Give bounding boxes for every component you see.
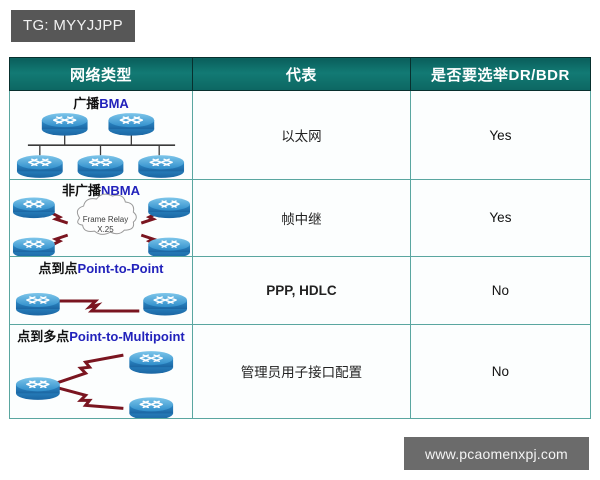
router-icon — [13, 198, 55, 219]
p2p-topology-svg — [10, 257, 192, 324]
cell-topology-broadcast: 广播BMA — [10, 91, 193, 180]
column-header-network-type: 网络类型 — [10, 58, 193, 91]
router-icon — [129, 397, 173, 418]
diagram-point-to-multipoint: 点到多点Point-to-Multipoint — [10, 325, 192, 418]
cell-representative-ppp-hdlc: PPP, HDLC — [193, 256, 411, 324]
cell-dr-bdr-p2mp: No — [410, 324, 590, 418]
table-header-row: 网络类型 代表 是否要选举DR/BDR — [10, 58, 591, 91]
router-icon — [17, 155, 63, 178]
router-icon — [148, 238, 190, 256]
router-icon — [16, 293, 60, 316]
table-row: 点到多点Point-to-Multipoint — [10, 324, 591, 418]
diagram-point-to-point: 点到点Point-to-Point — [10, 257, 192, 324]
cloud-label-line1: Frame Relay — [83, 215, 128, 224]
table-row: 点到点Point-to-Point — [10, 256, 591, 324]
cell-topology-point-to-point: 点到点Point-to-Point — [10, 256, 193, 324]
diagram-broadcast-bma: 广播BMA — [10, 91, 192, 179]
router-icon — [78, 155, 124, 178]
cell-representative-subinterface: 管理员用子接口配置 — [193, 324, 411, 418]
router-icon — [148, 198, 190, 219]
tg-tag: TG: MYYJJPP — [11, 10, 135, 42]
table-header: 网络类型 代表 是否要选举DR/BDR — [10, 58, 591, 91]
network-types-table: 网络类型 代表 是否要选举DR/BDR 广播BMA — [9, 57, 591, 419]
table-row: 广播BMA — [10, 91, 591, 180]
table-row: 非广播NBMA — [10, 180, 591, 256]
router-icon — [129, 351, 173, 374]
router-icon — [13, 238, 55, 256]
cell-dr-bdr-nbma: Yes — [410, 180, 590, 256]
site-watermark: www.pcaomenxpj.com — [404, 437, 589, 470]
broadcast-topology-svg — [10, 91, 192, 179]
router-icon — [138, 155, 184, 178]
cell-dr-bdr-broadcast: Yes — [410, 91, 590, 180]
column-header-representative: 代表 — [193, 58, 411, 91]
table-body: 广播BMA — [10, 91, 591, 419]
network-types-table-container: 网络类型 代表 是否要选举DR/BDR 广播BMA — [9, 57, 591, 419]
diagram-nbma: 非广播NBMA — [10, 180, 192, 255]
cell-dr-bdr-p2p: No — [410, 256, 590, 324]
cell-representative-ethernet: 以太网 — [193, 91, 411, 180]
cell-topology-nbma: 非广播NBMA — [10, 180, 193, 256]
p2mp-topology-svg — [10, 325, 192, 418]
cell-topology-point-to-multipoint: 点到多点Point-to-Multipoint — [10, 324, 193, 418]
nbma-topology-svg: Frame Relay X.25 — [10, 180, 192, 255]
router-icon — [42, 113, 88, 136]
router-icon — [143, 293, 187, 316]
cell-representative-frame-relay: 帧中继 — [193, 180, 411, 256]
router-icon — [108, 113, 154, 136]
cloud-label-line2: X.25 — [97, 225, 114, 234]
router-icon — [16, 377, 60, 400]
column-header-dr-bdr: 是否要选举DR/BDR — [410, 58, 590, 91]
